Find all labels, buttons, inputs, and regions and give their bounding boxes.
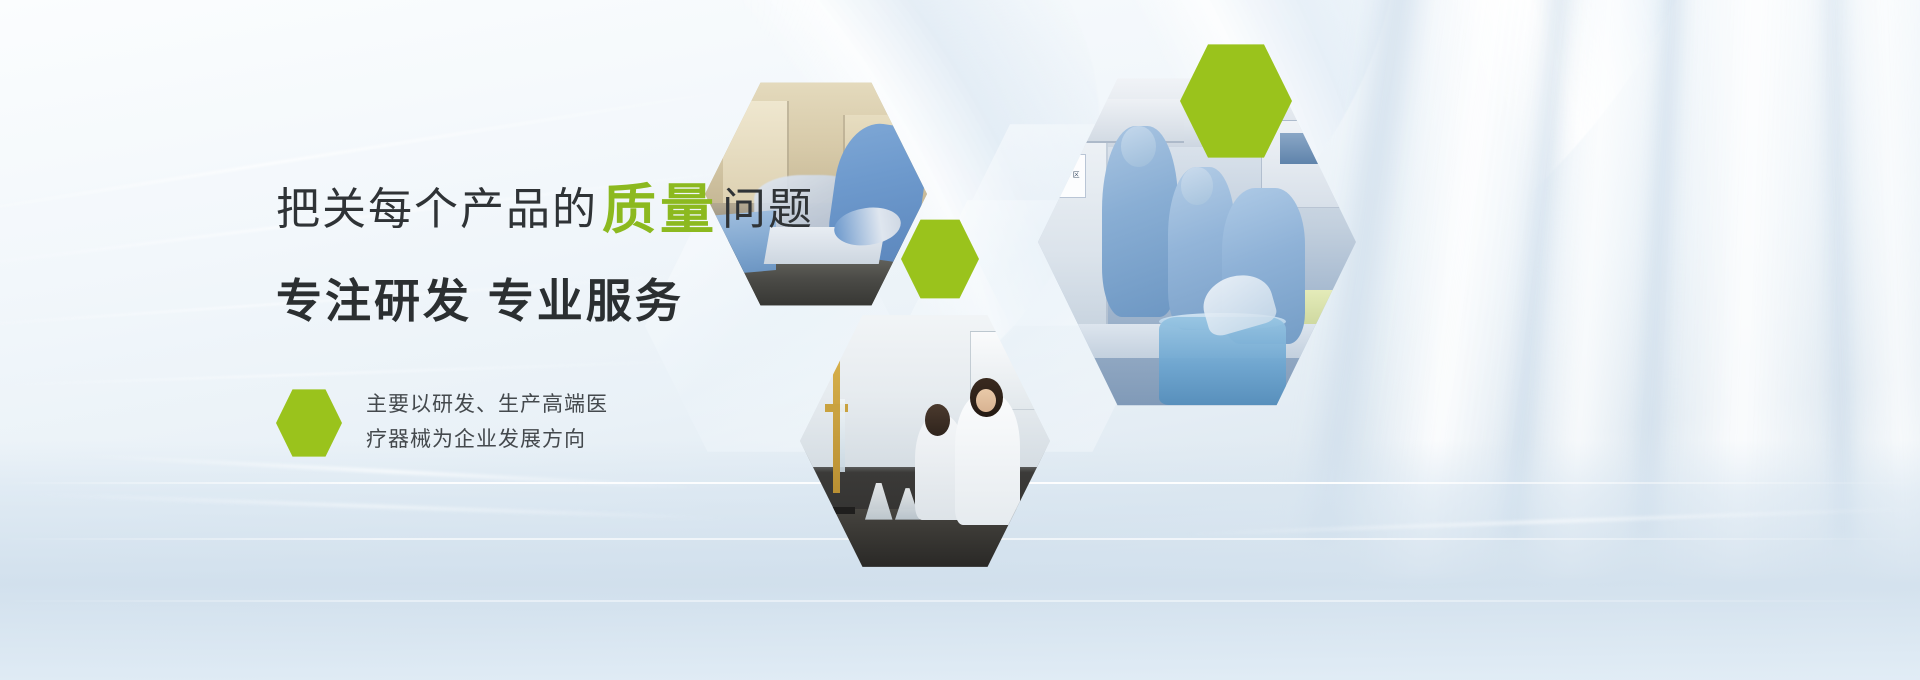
headline-line-2: 专注研发 专业服务 — [276, 265, 976, 331]
photo3-technician-1-head — [925, 404, 950, 435]
headline-highlight: 质量 — [598, 180, 722, 240]
photo2-panel-display — [1280, 133, 1331, 164]
pillar-shadow-2 — [1489, 0, 1587, 540]
photo3-flask-1 — [865, 483, 893, 520]
pillar-highlight-2 — [1518, 0, 1671, 580]
pillar-shadow-3 — [1624, 0, 1695, 540]
subtitle-row: 主要以研发、生产高端医 疗器械为企业发展方向 — [276, 388, 608, 458]
floor-streak-2 — [30, 493, 730, 520]
headline-prefix: 把关每个产品的 — [276, 185, 598, 234]
banner-text-block: 把关每个产品的质量问题 专注研发 专业服务 主要以研发、生产高端医 疗器械为企业… — [276, 183, 976, 331]
subtitle-line-2: 疗器械为企业发展方向 — [366, 423, 608, 458]
floor-streak-3 — [1180, 507, 1920, 536]
hero-banner: 洁净 区 把关每个产品的质量问题 专注研发 专业服务 — [0, 0, 1920, 680]
floor-line-3 — [0, 600, 1920, 602]
photo3-burette — [840, 399, 845, 472]
headline-line-1: 把关每个产品的质量问题 — [276, 183, 976, 237]
photo2-worker-1-head — [1121, 126, 1156, 167]
pillar-highlight-4 — [1829, 0, 1920, 580]
pillar-highlight-1 — [1352, 0, 1578, 580]
pillar-shadow-4 — [1813, 0, 1863, 540]
photo3-stand-base — [818, 507, 856, 515]
floor-streak-1 — [80, 454, 699, 489]
pillar-highlight-3 — [1654, 0, 1856, 580]
photo2-worker-2-head — [1181, 167, 1213, 204]
subtitle-line-1: 主要以研发、生产高端医 — [366, 388, 608, 423]
subtitle-text: 主要以研发、生产高端医 疗器械为企业发展方向 — [366, 388, 608, 457]
headline-suffix: 问题 — [722, 185, 814, 234]
wall-diagonal-4 — [0, 360, 700, 386]
hexagon-accent-green-subtitle — [276, 388, 342, 458]
